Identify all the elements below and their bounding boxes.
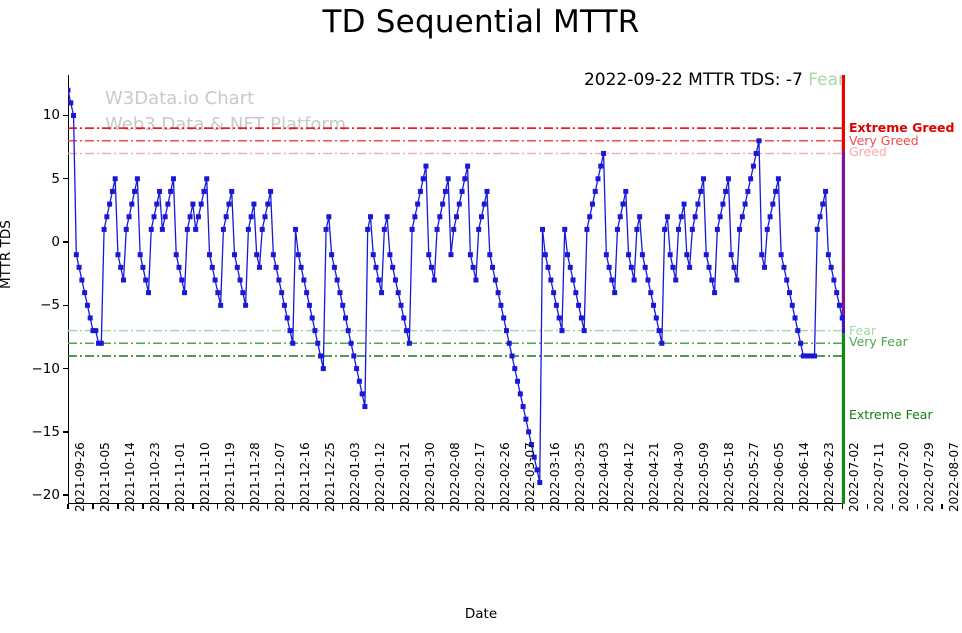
x-axis-tick-mark: [67, 504, 68, 509]
x-axis-tick-label: 2022-04-03: [597, 442, 611, 512]
x-axis-tick-label: 2022-07-29: [922, 442, 936, 512]
x-axis-tick-mark: [342, 504, 343, 509]
series-svg: [68, 75, 845, 504]
chart-canvas: TD Sequential MTTR 2022-09-22 MTTR TDS: …: [0, 0, 962, 633]
x-axis-tick-label: 2021-11-19: [223, 442, 237, 512]
threshold-label: Greed: [849, 144, 887, 159]
x-axis-tick-label: 2022-05-27: [747, 442, 761, 512]
x-axis-tick-label: 2022-04-21: [647, 442, 661, 512]
x-axis-tick-label: 2022-05-09: [697, 442, 711, 512]
x-axis-tick-mark: [142, 504, 143, 509]
x-axis-tick-mark: [941, 504, 942, 509]
x-axis-tick-mark: [792, 504, 793, 509]
x-axis-tick-mark: [167, 504, 168, 509]
x-axis-tick-label: 2022-01-21: [398, 442, 412, 512]
x-axis-tick-label: 2021-10-05: [98, 442, 112, 512]
y-axis-tick-label: −5: [20, 297, 60, 313]
x-axis-tick-label: 2022-01-03: [348, 442, 362, 512]
y-axis-tick-mark: [63, 368, 68, 369]
threshold-label: Extreme Fear: [849, 407, 933, 422]
x-axis-tick-mark: [517, 504, 518, 509]
y-axis-tick-label: −15: [20, 424, 60, 440]
x-axis-tick-label: 2022-04-12: [622, 442, 636, 512]
x-axis-tick-mark: [442, 504, 443, 509]
edge-bar-segment: [842, 151, 845, 332]
x-axis-tick-label: 2021-10-14: [123, 442, 137, 512]
x-axis-tick-label: 2021-11-10: [198, 442, 212, 512]
x-axis-tick-mark: [292, 504, 293, 509]
x-axis-tick-mark: [842, 504, 843, 509]
y-axis-tick-label: 5: [20, 171, 60, 187]
y-axis-tick-mark: [63, 178, 68, 179]
x-axis-tick-mark: [217, 504, 218, 509]
x-axis-tick-label: 2022-03-07: [523, 442, 537, 512]
x-axis-tick-label: 2021-11-28: [248, 442, 262, 512]
edge-bar-segment: [842, 332, 845, 504]
x-axis-tick-mark: [417, 504, 418, 509]
x-axis-tick-mark: [117, 504, 118, 509]
y-axis-tick-mark: [63, 241, 68, 242]
x-axis-tick-mark: [867, 504, 868, 509]
x-axis-tick-mark: [242, 504, 243, 509]
y-axis-tick-mark: [63, 431, 68, 432]
x-axis-tick-mark: [492, 504, 493, 509]
x-axis-tick-mark: [642, 504, 643, 509]
x-axis-tick-mark: [592, 504, 593, 509]
x-axis-tick-mark: [467, 504, 468, 509]
x-axis-tick-label: 2022-04-30: [672, 442, 686, 512]
x-axis-tick-label: 2022-08-07: [947, 442, 961, 512]
x-axis-tick-label: 2022-03-16: [548, 442, 562, 512]
x-axis-tick-label: 2021-12-07: [273, 442, 287, 512]
x-axis-tick-mark: [617, 504, 618, 509]
y-axis-tick-mark: [63, 494, 68, 495]
series-line: [68, 90, 845, 482]
x-axis-tick-label: 2022-07-11: [872, 442, 886, 512]
x-axis-tick-label: 2021-12-25: [323, 442, 337, 512]
y-axis-tick-label: −10: [20, 361, 60, 377]
x-axis-tick-mark: [742, 504, 743, 509]
x-axis-tick-mark: [692, 504, 693, 509]
x-axis-tick-label: 2022-02-26: [498, 442, 512, 512]
x-axis-tick-label: 2022-06-05: [772, 442, 786, 512]
x-axis-tick-label: 2022-06-14: [797, 442, 811, 512]
x-axis-tick-label: 2022-01-30: [423, 442, 437, 512]
x-axis-tick-mark: [817, 504, 818, 509]
x-axis-tick-mark: [317, 504, 318, 509]
x-axis-tick-mark: [567, 504, 568, 509]
x-axis-tick-label: 2022-02-17: [473, 442, 487, 512]
x-axis-tick-mark: [92, 504, 93, 509]
plot-area: [68, 75, 845, 504]
x-axis-tick-label: 2022-03-25: [573, 442, 587, 512]
x-axis-tick-label: 2022-02-08: [448, 442, 462, 512]
x-axis-label: Date: [0, 606, 962, 622]
y-axis-tick-mark: [63, 305, 68, 306]
x-axis-tick-label: 2021-12-16: [298, 442, 312, 512]
x-axis-tick-label: 2022-07-20: [897, 442, 911, 512]
x-axis-tick-mark: [192, 504, 193, 509]
edge-bar-segment: [842, 75, 845, 151]
x-axis-tick-mark: [392, 504, 393, 509]
x-axis-tick-label: 2022-07-02: [847, 442, 861, 512]
x-axis-tick-mark: [267, 504, 268, 509]
x-axis-tick-label: 2022-01-12: [373, 442, 387, 512]
x-axis-tick-mark: [917, 504, 918, 509]
y-axis-tick-label: 0: [20, 234, 60, 250]
x-axis-tick-label: 2022-06-23: [822, 442, 836, 512]
y-axis-label: MTTR TDS: [0, 220, 14, 289]
y-axis-tick-mark: [63, 115, 68, 116]
x-axis-tick-label: 2021-10-23: [148, 442, 162, 512]
threshold-label: Very Fear: [849, 334, 908, 349]
x-axis-tick-mark: [717, 504, 718, 509]
x-axis-tick-mark: [542, 504, 543, 509]
x-axis-tick-label: 2021-11-01: [173, 442, 187, 512]
y-axis-tick-label: 10: [20, 107, 60, 123]
x-axis-tick-mark: [767, 504, 768, 509]
x-axis-tick-label: 2021-09-26: [73, 442, 87, 512]
chart-title: TD Sequential MTTR: [0, 4, 962, 40]
x-axis-tick-mark: [367, 504, 368, 509]
x-axis-tick-label: 2022-05-18: [722, 442, 736, 512]
x-axis-tick-mark: [892, 504, 893, 509]
x-axis-tick-mark: [667, 504, 668, 509]
y-axis-tick-label: −20: [20, 487, 60, 503]
